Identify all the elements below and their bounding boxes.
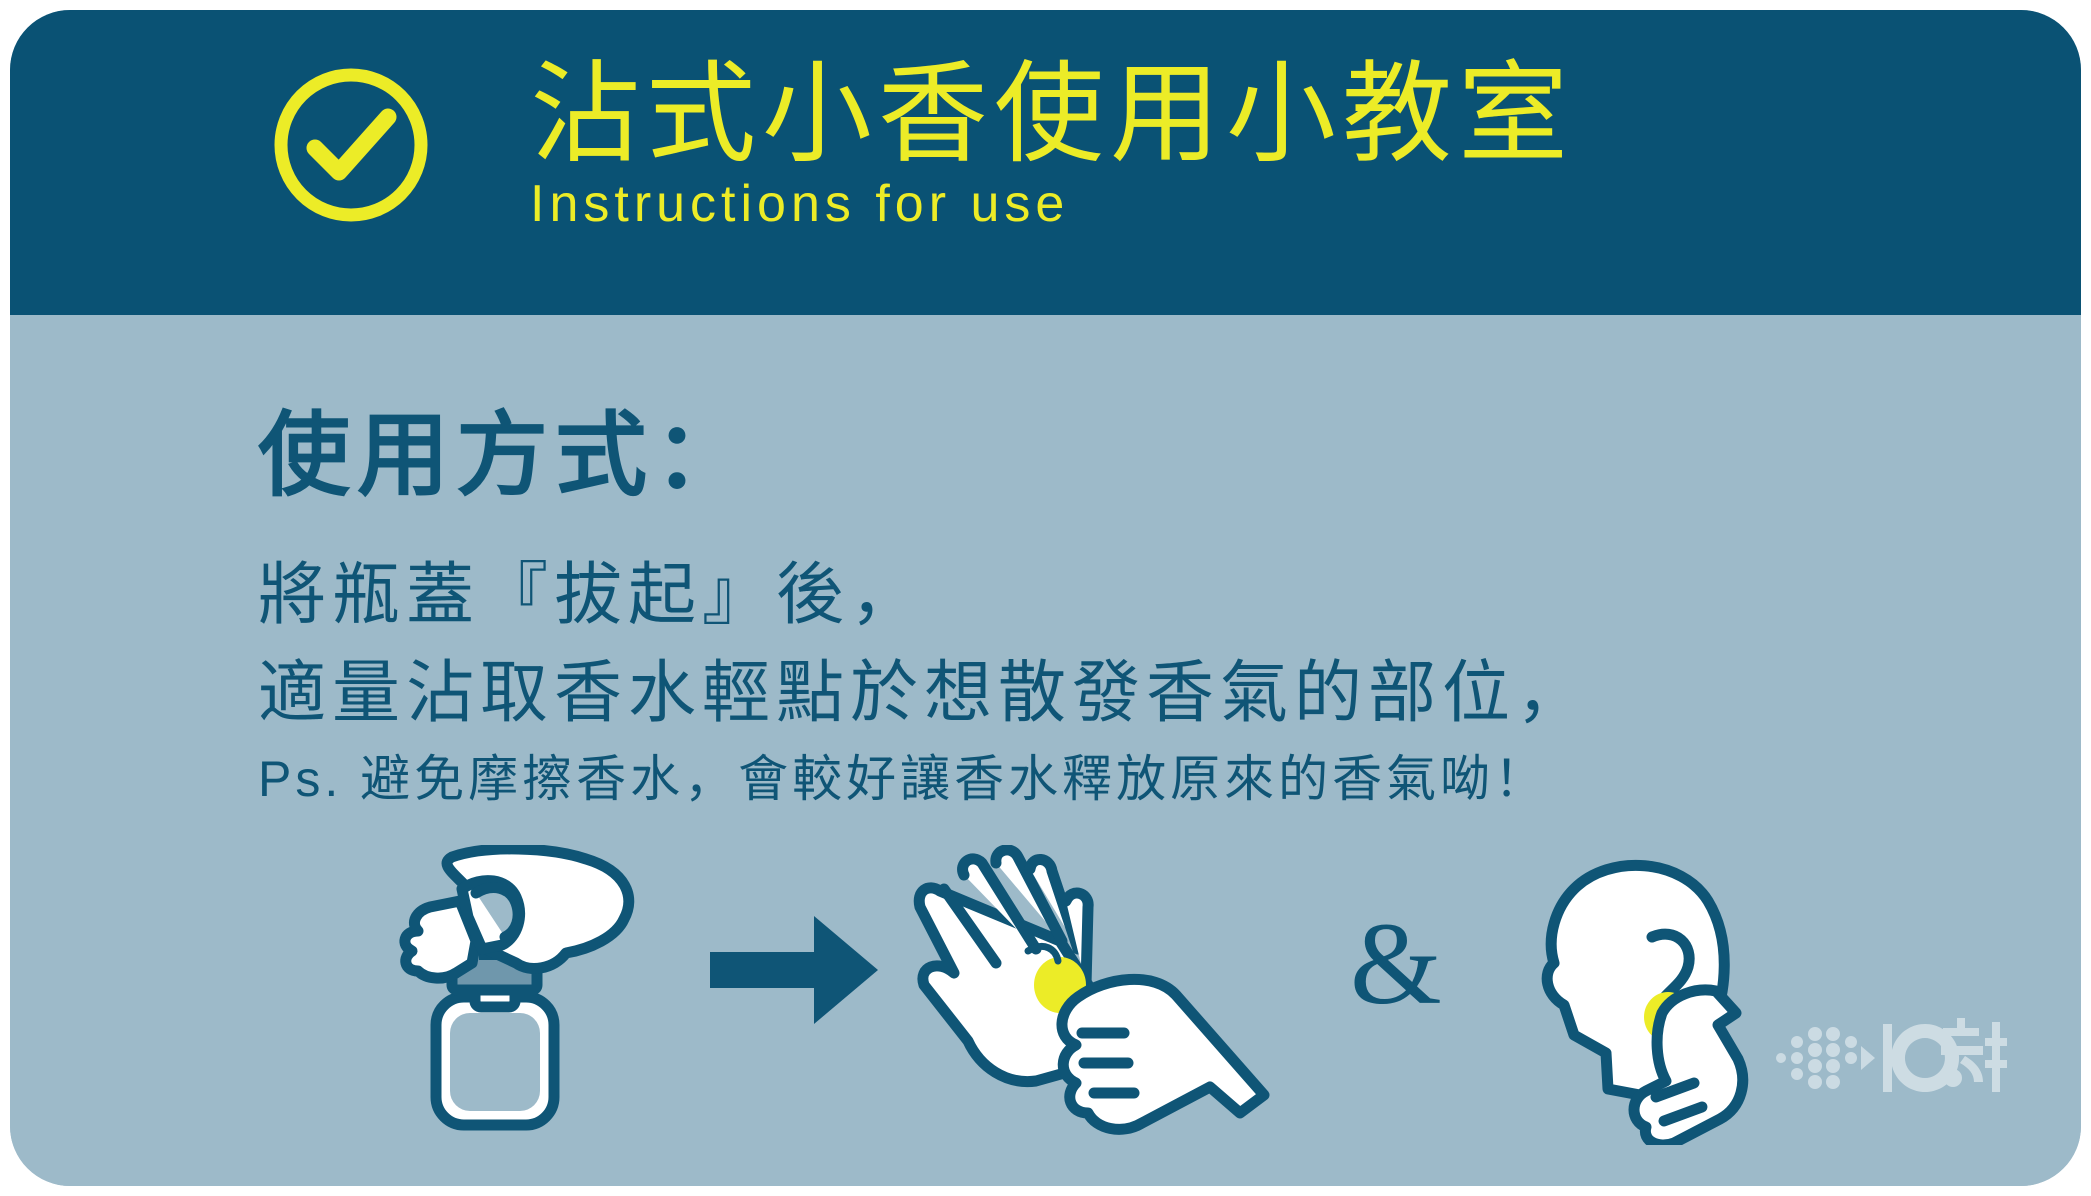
dot-grid-logo-icon [1776,1027,1875,1089]
watermark-logo [1775,1016,2007,1100]
page-title: 沾式小香使用小教室 [530,56,1574,174]
conjunction-ampersand: & [1350,905,1460,1023]
page-subtitle: Instructions for use [530,176,1574,233]
check-circle-icon [268,62,434,228]
title-block: 沾式小香使用小教室 Instructions for use [530,56,1574,233]
card-body: 使用方式： 將瓶蓋『拔起』後， 適量沾取香水輕點於想散發香氣的部位， Ps. 避… [10,315,2081,1186]
illustration-row: & [390,845,1710,1145]
hand-pulling-bottle-cap-icon [390,845,690,1150]
arrow-right-icon [710,910,880,1035]
card-header: 沾式小香使用小教室 Instructions for use [10,10,2081,315]
instruction-card: 沾式小香使用小教室 Instructions for use 使用方式： 將瓶蓋… [10,10,2081,1186]
usage-heading: 使用方式： [258,381,753,514]
instruction-line-2: 適量沾取香水輕點於想散發香氣的部位， [258,637,1590,736]
instruction-note: Ps. 避免摩擦香水，會較好讓香水釋放原來的香氣呦！ [258,739,1548,811]
instruction-line-1: 將瓶蓋『拔起』後， [258,539,924,638]
finger-dab-on-wrist-icon [910,845,1330,1150]
finger-dab-behind-ear-icon [1480,845,1760,1150]
ampersand-glyph: & [1350,905,1460,1023]
